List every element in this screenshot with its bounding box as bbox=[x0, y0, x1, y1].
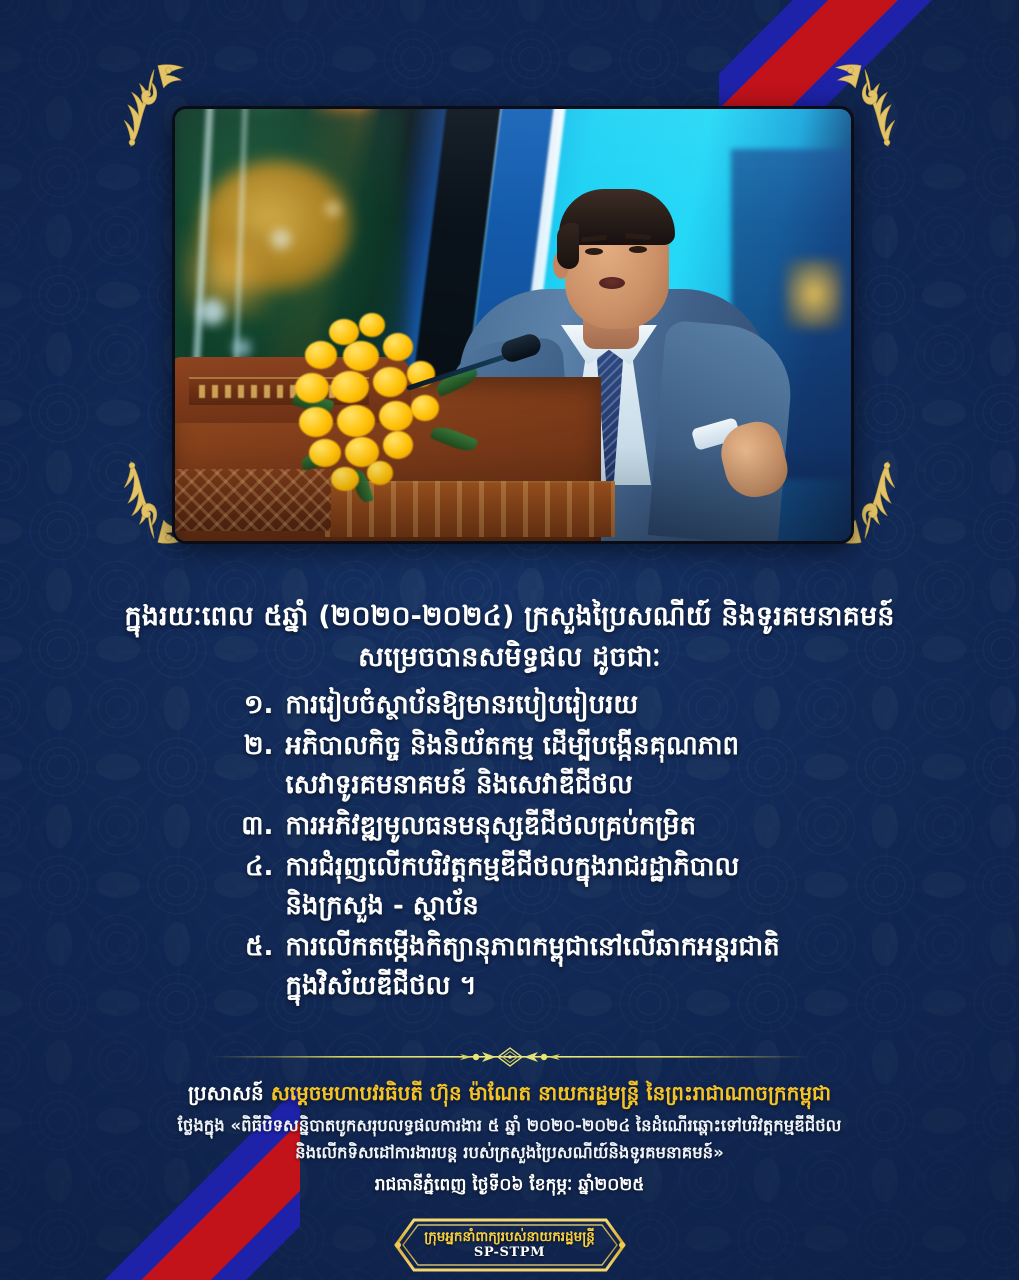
occasion-line-2: និងលើកទិសដៅការងារបន្ត របស់ក្រសួងប្រៃសណីយ… bbox=[40, 1140, 979, 1167]
achievement-item: ២.អភិបាលកិច្ច និងនិយ័តកម្ម ដើម្បីបង្កើនគ… bbox=[239, 727, 779, 805]
page-title: ក្នុងរយៈពេល ៥ឆ្នាំ (២០២០-២០២៤) ក្រសួងប្រ… bbox=[60, 596, 959, 678]
achievement-list: ១.ការរៀបចំស្ថាប័នឱ្យមានរបៀបរៀបរយ២.អភិបាល… bbox=[239, 684, 779, 1008]
achievement-item: ៣.ការអភិវឌ្ឍមូលធនមនុស្សឌីជីថលគ្រប់កម្រិត bbox=[239, 807, 779, 846]
achievement-text: អភិបាលកិច្ច និងនិយ័តកម្ម ដើម្បីបង្កើនគុណ… bbox=[285, 727, 779, 805]
achievement-number: ៤. bbox=[239, 848, 273, 887]
poster-card: ក្នុងរយៈពេល ៥ឆ្នាំ (២០២០-២០២៤) ក្រសួងប្រ… bbox=[0, 0, 1019, 1280]
announcement-content: ក្នុងរយៈពេល ៥ឆ្នាំ (២០២០-២០២៤) ក្រសួងប្រ… bbox=[60, 596, 959, 1008]
achievement-number: ៥. bbox=[239, 928, 273, 967]
achievement-text: ការរៀបចំស្ថាប័នឱ្យមានរបៀបរៀបរយ bbox=[285, 686, 779, 725]
occasion-line-1: ថ្លែងក្នុង «ពិធីបិទសន្និបាតបូកសរុបលទ្ធផល… bbox=[40, 1113, 979, 1140]
badge-khmer-label: ក្រុមអ្នកនាំពាក្យរបស់នាយករដ្ឋមន្ត្រី bbox=[424, 1230, 595, 1245]
speaker-name: សម្តេចមហាបវរធិបតី ហ៊ុន ម៉ាណែត នាយករដ្ឋមន… bbox=[271, 1081, 831, 1105]
speaker-attribution: ប្រសាសន៍ សម្តេចមហាបវរធិបតី ហ៊ុន ម៉ាណែត ន… bbox=[40, 1078, 979, 1108]
attribution-prefix: ប្រសាសន៍ bbox=[188, 1081, 264, 1105]
photo-scene bbox=[175, 109, 851, 541]
achievement-item: ១.ការរៀបចំស្ថាប័នឱ្យមានរបៀបរៀបរយ bbox=[239, 686, 779, 725]
photo-gloss-overlay bbox=[175, 109, 851, 541]
achievement-text: ការអភិវឌ្ឍមូលធនមនុស្សឌីជីថលគ្រប់កម្រិត bbox=[285, 807, 779, 846]
achievement-item: ៤.ការជំរុញលើកបរិវត្តកម្មឌីជីថលក្នុងរាជរដ… bbox=[239, 848, 779, 926]
achievement-text: ការលើកតម្កើងកិត្យានុភាពកម្ពុជានៅលើឆាកអន្… bbox=[285, 928, 779, 1006]
ornamental-divider bbox=[210, 1044, 810, 1070]
achievement-number: ១. bbox=[239, 686, 273, 725]
spokesperson-badge: ក្រុមអ្នកនាំពាក្យរបស់នាយករដ្ឋមន្ត្រី SP-… bbox=[392, 1218, 628, 1272]
badge-labels: ក្រុមអ្នកនាំពាក្យរបស់នាយករដ្ឋមន្ត្រី SP-… bbox=[392, 1218, 628, 1272]
footer-attribution: ប្រសាសន៍ សម្តេចមហាបវរធិបតី ហ៊ុន ម៉ាណែត ន… bbox=[40, 1078, 979, 1199]
achievement-item: ៥.ការលើកតម្កើងកិត្យានុភាពកម្ពុជានៅលើឆាកអ… bbox=[239, 928, 779, 1006]
speaker-photo bbox=[172, 106, 854, 544]
achievement-text: ការជំរុញលើកបរិវត្តកម្មឌីជីថលក្នុងរាជរដ្ឋ… bbox=[285, 848, 779, 926]
place-and-date: រាជធានីភ្នំពេញ ថ្ងៃទី០៦ ខែកុម្ភៈ ឆ្នាំ២០… bbox=[40, 1174, 979, 1199]
achievement-number: ២. bbox=[239, 727, 273, 766]
achievement-number: ៣. bbox=[239, 807, 273, 846]
badge-english-label: SP-STPM bbox=[474, 1245, 545, 1260]
